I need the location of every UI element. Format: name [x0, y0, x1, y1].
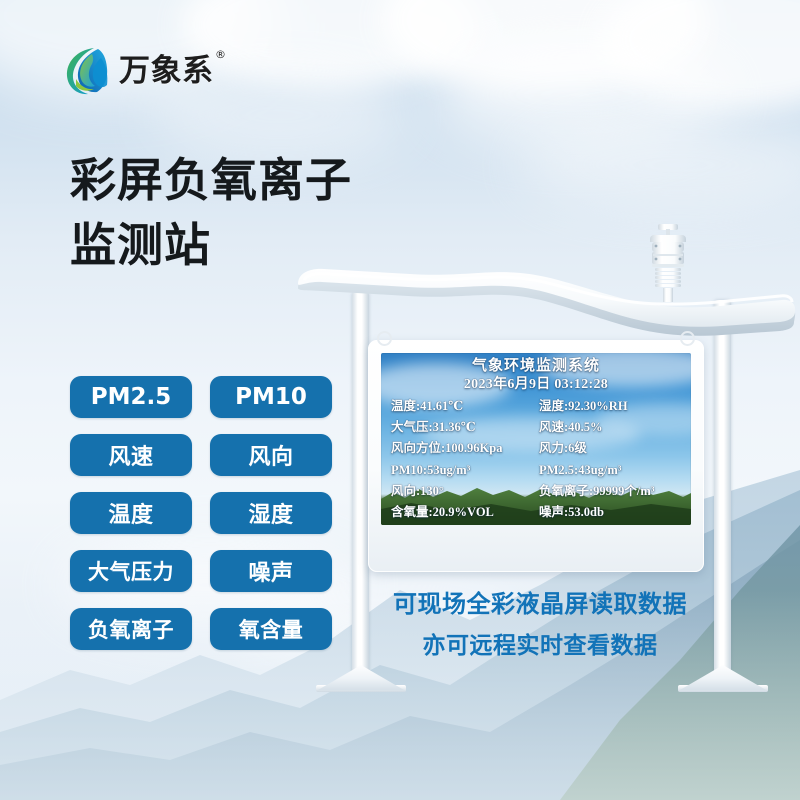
lcd-datetime: 2023年6月9日 03:12:28: [391, 376, 681, 394]
brand-name-text: 万象系: [119, 53, 214, 89]
lcd-reading-noise: 噪声:53.0db: [539, 502, 681, 522]
lcd-reading-oxygen: 含氧量:20.9%VOL: [391, 502, 533, 522]
lcd-reading-temperature: 温度:41.61℃: [391, 396, 533, 416]
feature-pill-pm10[interactable]: PM10: [210, 376, 332, 418]
lcd-display-panel[interactable]: 气象环境监测系统 2023年6月9日 03:12:28 温度:41.61℃ 湿度…: [368, 340, 704, 572]
feature-caption-line2: 亦可远程实时查看数据: [385, 626, 695, 667]
lcd-reading-windforce: 风力:6级: [539, 438, 681, 458]
ultrasonic-weather-sensor-icon: [640, 222, 696, 304]
poster-canvas: 万象系 ® 彩屏负氧离子 监测站 PM2.5 PM10 风速 风向 温度 湿度 …: [0, 0, 800, 800]
lcd-reading-pm25: PM2.5:43ug/m³: [539, 460, 681, 480]
feature-pill-winddirection[interactable]: 风向: [210, 434, 332, 476]
feature-pill-pressure[interactable]: 大气压力: [70, 550, 192, 592]
feature-pill-pm25[interactable]: PM2.5: [70, 376, 192, 418]
lcd-readout: 气象环境监测系统 2023年6月9日 03:12:28 温度:41.61℃ 湿度…: [381, 353, 691, 522]
feature-pill-noise[interactable]: 噪声: [210, 550, 332, 592]
globe-swirl-logo-icon: [64, 46, 110, 96]
support-pole-icon: [714, 300, 731, 684]
feature-pill-list: PM2.5 PM10 风速 风向 温度 湿度 大气压力 噪声 负氧离子 氧含量: [70, 376, 332, 650]
mount-hook-icon: [377, 331, 392, 346]
lcd-reading-negativeions: 负氧离子:99999个/m³: [539, 481, 681, 501]
lcd-reading-grid: 温度:41.61℃ 湿度:92.30%RH 大气压:31.36℃ 风速:40.5…: [391, 396, 681, 523]
page-title-line1: 彩屏负氧离子: [70, 148, 450, 213]
lcd-title: 气象环境监测系统: [391, 358, 681, 376]
feature-pill-humidity[interactable]: 湿度: [210, 492, 332, 534]
brand-name: 万象系 ®: [119, 56, 214, 87]
lcd-reading-windspeed: 风速:40.5%: [539, 417, 681, 437]
brand-logo: 万象系 ®: [64, 46, 214, 96]
registered-trademark-icon: ®: [215, 49, 227, 60]
feature-pill-oxygen[interactable]: 氧含量: [210, 608, 332, 650]
wave-canopy-icon: [290, 258, 800, 336]
feature-caption-line1: 可现场全彩液晶屏读取数据: [385, 583, 695, 626]
lcd-reading-pressure: 大气压:31.36℃: [391, 417, 533, 437]
lcd-reading-pm10: PM10:53ug/m³: [391, 460, 533, 480]
feature-pill-temperature[interactable]: 温度: [70, 492, 192, 534]
feature-pill-negativeions[interactable]: 负氧离子: [70, 608, 192, 650]
lcd-screen[interactable]: 气象环境监测系统 2023年6月9日 03:12:28 温度:41.61℃ 湿度…: [381, 353, 691, 525]
lcd-reading-humidity: 湿度:92.30%RH: [539, 396, 681, 416]
support-pole-icon: [352, 292, 369, 684]
lcd-reading-winddirection: 风向:130°: [391, 481, 533, 501]
feature-pill-windspeed[interactable]: 风速: [70, 434, 192, 476]
lcd-reading-windbearing: 风向方位:100.96Kpa: [391, 438, 533, 458]
mount-hook-icon: [680, 331, 695, 346]
feature-caption: 可现场全彩液晶屏读取数据 亦可远程实时查看数据: [385, 583, 695, 667]
